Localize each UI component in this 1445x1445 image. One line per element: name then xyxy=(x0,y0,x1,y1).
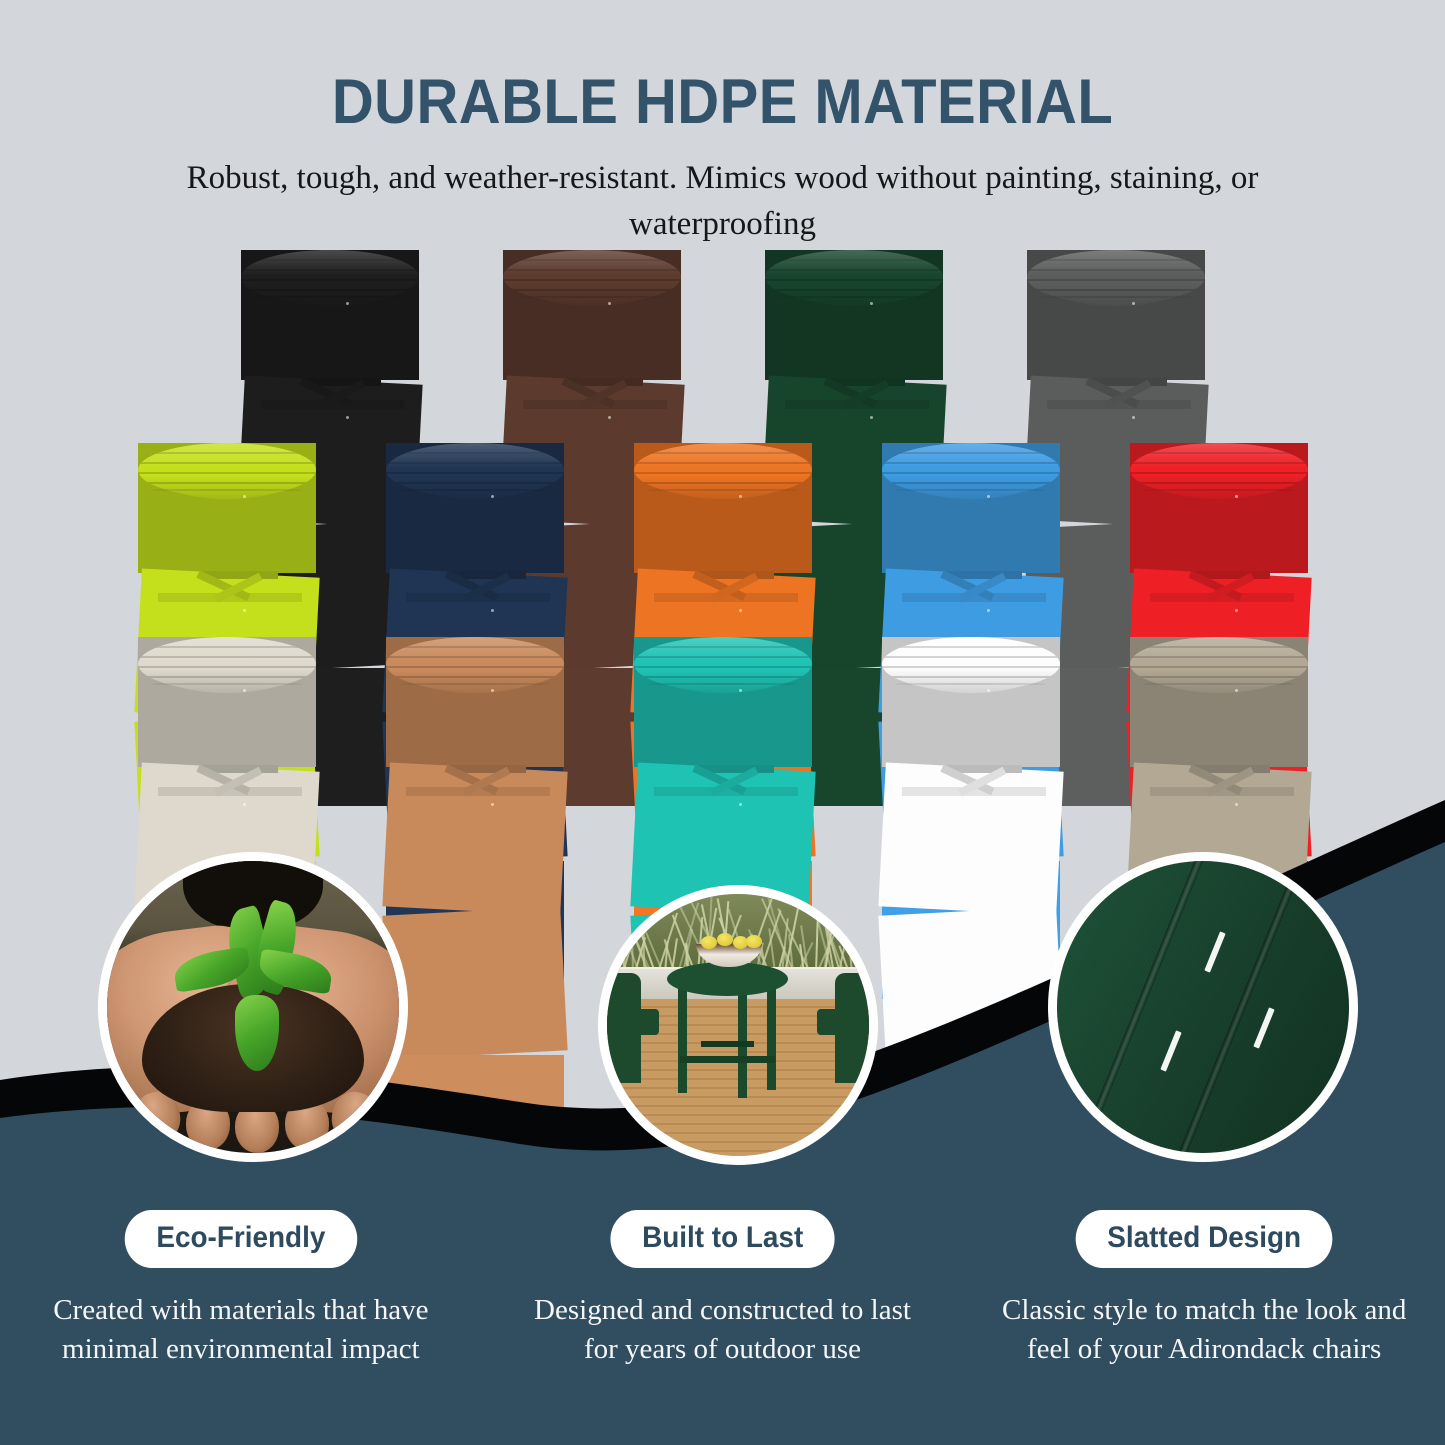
adirondack-chair-left-arm xyxy=(598,1009,659,1035)
table-slat xyxy=(386,472,564,474)
table-leg xyxy=(767,986,776,1091)
side-table-illustration xyxy=(1130,443,1308,633)
side-table-illustration xyxy=(138,443,316,633)
lemon xyxy=(701,936,717,949)
apron-seam xyxy=(648,683,798,685)
top-highlight xyxy=(138,637,316,665)
screw-detail xyxy=(243,689,246,692)
feature-item-slatted-design: Slatted Design Classic style to match th… xyxy=(963,1210,1445,1445)
top-shadow xyxy=(386,475,564,497)
side-table-illustration xyxy=(882,443,1060,633)
screw-detail xyxy=(987,689,990,692)
top-highlight xyxy=(138,443,316,471)
side-table-illustration xyxy=(241,250,419,440)
side-table-illustration xyxy=(634,443,812,633)
top-highlight xyxy=(241,250,419,278)
top-shadow xyxy=(882,475,1060,497)
table-slat xyxy=(1130,472,1308,474)
table-slat xyxy=(634,666,812,668)
green-side-table-on-deck-photo xyxy=(598,885,878,1165)
apron-seam xyxy=(400,489,550,491)
apron-seam xyxy=(896,683,1046,685)
table-slat xyxy=(634,472,812,474)
screw-detail xyxy=(739,609,742,612)
apron-seam xyxy=(1144,683,1294,685)
top-shadow xyxy=(634,669,812,691)
table-leg xyxy=(678,986,687,1093)
header-section: DURABLE HDPE MATERIAL Robust, tough, and… xyxy=(0,0,1445,250)
table-slat xyxy=(882,472,1060,474)
grass-blade xyxy=(631,913,634,972)
side-table-illustration xyxy=(765,250,943,440)
apron-seam xyxy=(779,296,929,298)
table-slat xyxy=(386,666,564,668)
apron-seam xyxy=(517,296,667,298)
top-shadow xyxy=(765,282,943,304)
screw-detail xyxy=(870,416,873,419)
table-top xyxy=(667,962,788,996)
screw-detail xyxy=(1235,689,1238,692)
top-shadow xyxy=(1130,475,1308,497)
color-swatch-table xyxy=(461,246,723,442)
color-swatch-table xyxy=(351,439,599,635)
apron-seam xyxy=(255,296,405,298)
color-swatch-table xyxy=(599,439,847,635)
top-highlight xyxy=(634,637,812,665)
top-shadow xyxy=(882,669,1060,691)
feature-description: Classic style to match the look and feel… xyxy=(963,1291,1445,1368)
screw-detail xyxy=(1235,495,1238,498)
screw-detail xyxy=(346,416,349,419)
screw-detail xyxy=(491,495,494,498)
adirondack-chair-right-arm xyxy=(817,1009,878,1035)
top-highlight xyxy=(882,637,1060,665)
color-row-2 xyxy=(0,439,1445,635)
table-slat xyxy=(765,279,943,281)
top-highlight xyxy=(386,637,564,665)
side-table-illustration xyxy=(1027,250,1205,440)
screw-detail xyxy=(1235,609,1238,612)
color-swatch-table xyxy=(723,246,985,442)
feature-badge: Slatted Design xyxy=(1076,1210,1333,1268)
page-subtitle: Robust, tough, and weather-resistant. Mi… xyxy=(0,156,1445,247)
top-highlight xyxy=(1027,250,1205,278)
table-slat xyxy=(1130,666,1308,668)
feature-badge: Built to Last xyxy=(610,1210,834,1268)
screw-detail xyxy=(987,609,990,612)
screw-detail xyxy=(243,495,246,498)
screw-detail xyxy=(491,689,494,692)
screw-detail xyxy=(608,416,611,419)
screw-detail xyxy=(491,609,494,612)
feature-list: Eco-Friendly Created with materials that… xyxy=(0,1210,1445,1445)
page-title: DURABLE HDPE MATERIAL xyxy=(58,66,1387,138)
apron-seam xyxy=(896,489,1046,491)
top-shadow xyxy=(138,669,316,691)
screw-detail xyxy=(870,302,873,305)
table-slat xyxy=(1027,279,1205,281)
top-highlight xyxy=(1130,637,1308,665)
top-highlight xyxy=(386,443,564,471)
top-highlight xyxy=(765,250,943,278)
color-swatch-table xyxy=(847,439,1095,635)
green-slat-closeup-photo xyxy=(1048,852,1358,1162)
top-highlight xyxy=(503,250,681,278)
color-swatch-table xyxy=(985,246,1247,442)
color-swatch-grid xyxy=(0,246,1445,836)
top-shadow xyxy=(1027,282,1205,304)
hands-holding-seedling-photo xyxy=(98,852,408,1162)
apron-seam xyxy=(1144,489,1294,491)
feature-badge: Eco-Friendly xyxy=(125,1210,357,1268)
color-swatch-table xyxy=(199,246,461,442)
apron-seam xyxy=(400,683,550,685)
top-shadow xyxy=(138,475,316,497)
feature-description: Designed and constructed to last for yea… xyxy=(482,1291,964,1368)
screw-detail xyxy=(1132,416,1135,419)
lemon xyxy=(746,935,762,948)
feature-item-eco-friendly: Eco-Friendly Created with materials that… xyxy=(0,1210,482,1445)
table-slat xyxy=(138,666,316,668)
screw-detail xyxy=(739,689,742,692)
top-shadow xyxy=(503,282,681,304)
table-stretcher xyxy=(680,1056,774,1063)
screw-detail xyxy=(608,302,611,305)
table-slat xyxy=(138,472,316,474)
table-slat xyxy=(241,279,419,281)
side-table-illustration xyxy=(386,443,564,633)
apron-seam xyxy=(648,489,798,491)
table-stretcher xyxy=(701,1041,753,1047)
screw-detail xyxy=(346,302,349,305)
table-slat xyxy=(882,666,1060,668)
top-shadow xyxy=(241,282,419,304)
apron-seam xyxy=(152,489,302,491)
top-highlight xyxy=(882,443,1060,471)
color-swatch-table xyxy=(1095,439,1343,635)
table-slat xyxy=(503,279,681,281)
top-highlight xyxy=(1130,443,1308,471)
feature-item-built-to-last: Built to Last Designed and constructed t… xyxy=(482,1210,964,1445)
top-shadow xyxy=(386,669,564,691)
screw-detail xyxy=(1132,302,1135,305)
top-shadow xyxy=(634,475,812,497)
top-shadow xyxy=(1130,669,1308,691)
apron-seam xyxy=(152,683,302,685)
color-swatch-table xyxy=(103,439,351,635)
feature-description: Created with materials that have minimal… xyxy=(0,1291,482,1368)
side-table-illustration xyxy=(503,250,681,440)
screw-detail xyxy=(243,609,246,612)
top-highlight xyxy=(634,443,812,471)
screw-detail xyxy=(987,495,990,498)
apron-seam xyxy=(1041,296,1191,298)
screw-detail xyxy=(739,495,742,498)
color-row-1 xyxy=(0,246,1445,442)
